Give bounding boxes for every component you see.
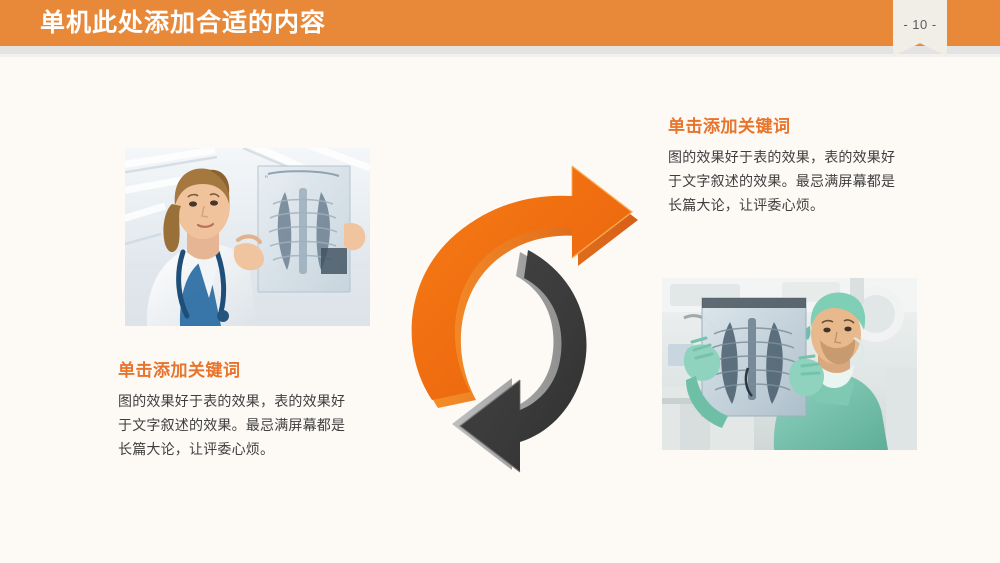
body-text-top-right: 图的效果好于表的效果，表的效果好 于文字叙述的效果。最忌满屏幕都是 长篇大论，让… xyxy=(668,145,958,217)
header-divider xyxy=(0,46,1000,54)
keyword-heading-bottom-left: 单击添加关键词 xyxy=(118,360,408,382)
text-block-bottom-left: 单击添加关键词 图的效果好于表的效果，表的效果好 于文字叙述的效果。最忌满屏幕都… xyxy=(118,360,408,461)
photo-female-doctor-xray: R xyxy=(125,148,370,326)
body-line: 长篇大论，让评委心烦。 xyxy=(668,193,958,217)
header-divider-secondary xyxy=(0,54,1000,57)
page-number-label: - 10 - xyxy=(893,0,947,56)
orange-arrow-body xyxy=(412,166,632,400)
text-block-top-right: 单击添加关键词 图的效果好于表的效果，表的效果好 于文字叙述的效果。最忌满屏幕都… xyxy=(668,116,958,217)
svg-text:R: R xyxy=(265,174,268,179)
keyword-heading-top-right: 单击添加关键词 xyxy=(668,116,958,138)
body-line: 于文字叙述的效果。最忌满屏幕都是 xyxy=(118,413,408,437)
photo-male-surgeon-xray xyxy=(662,278,917,450)
body-line: 于文字叙述的效果。最忌满屏幕都是 xyxy=(668,169,958,193)
body-line: 图的效果好于表的效果，表的效果好 xyxy=(118,389,408,413)
slide-canvas: 单机此处添加合适的内容 - 10 - xyxy=(0,0,1000,563)
page-title: 单机此处添加合适的内容 xyxy=(40,8,326,38)
body-text-bottom-left: 图的效果好于表的效果，表的效果好 于文字叙述的效果。最忌满屏幕都是 长篇大论，让… xyxy=(118,389,408,461)
body-line: 长篇大论，让评委心烦。 xyxy=(118,437,408,461)
body-line: 图的效果好于表的效果，表的效果好 xyxy=(668,145,958,169)
dark-arrow-body xyxy=(460,250,587,472)
